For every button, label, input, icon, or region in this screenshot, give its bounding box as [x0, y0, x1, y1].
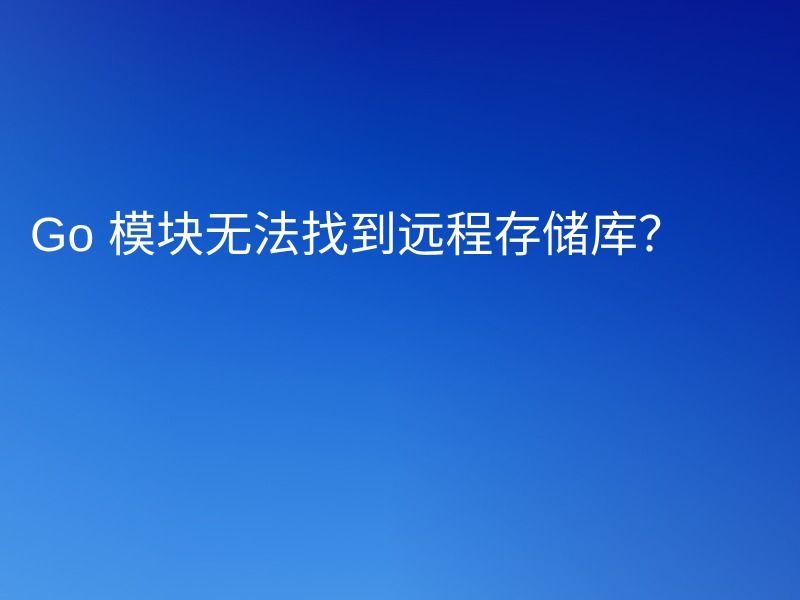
background-gradient-diagonal	[0, 0, 800, 600]
title-card: Go 模块无法找到远程存储库？	[0, 0, 800, 600]
page-title: Go 模块无法找到远程存储库？	[30, 206, 760, 266]
